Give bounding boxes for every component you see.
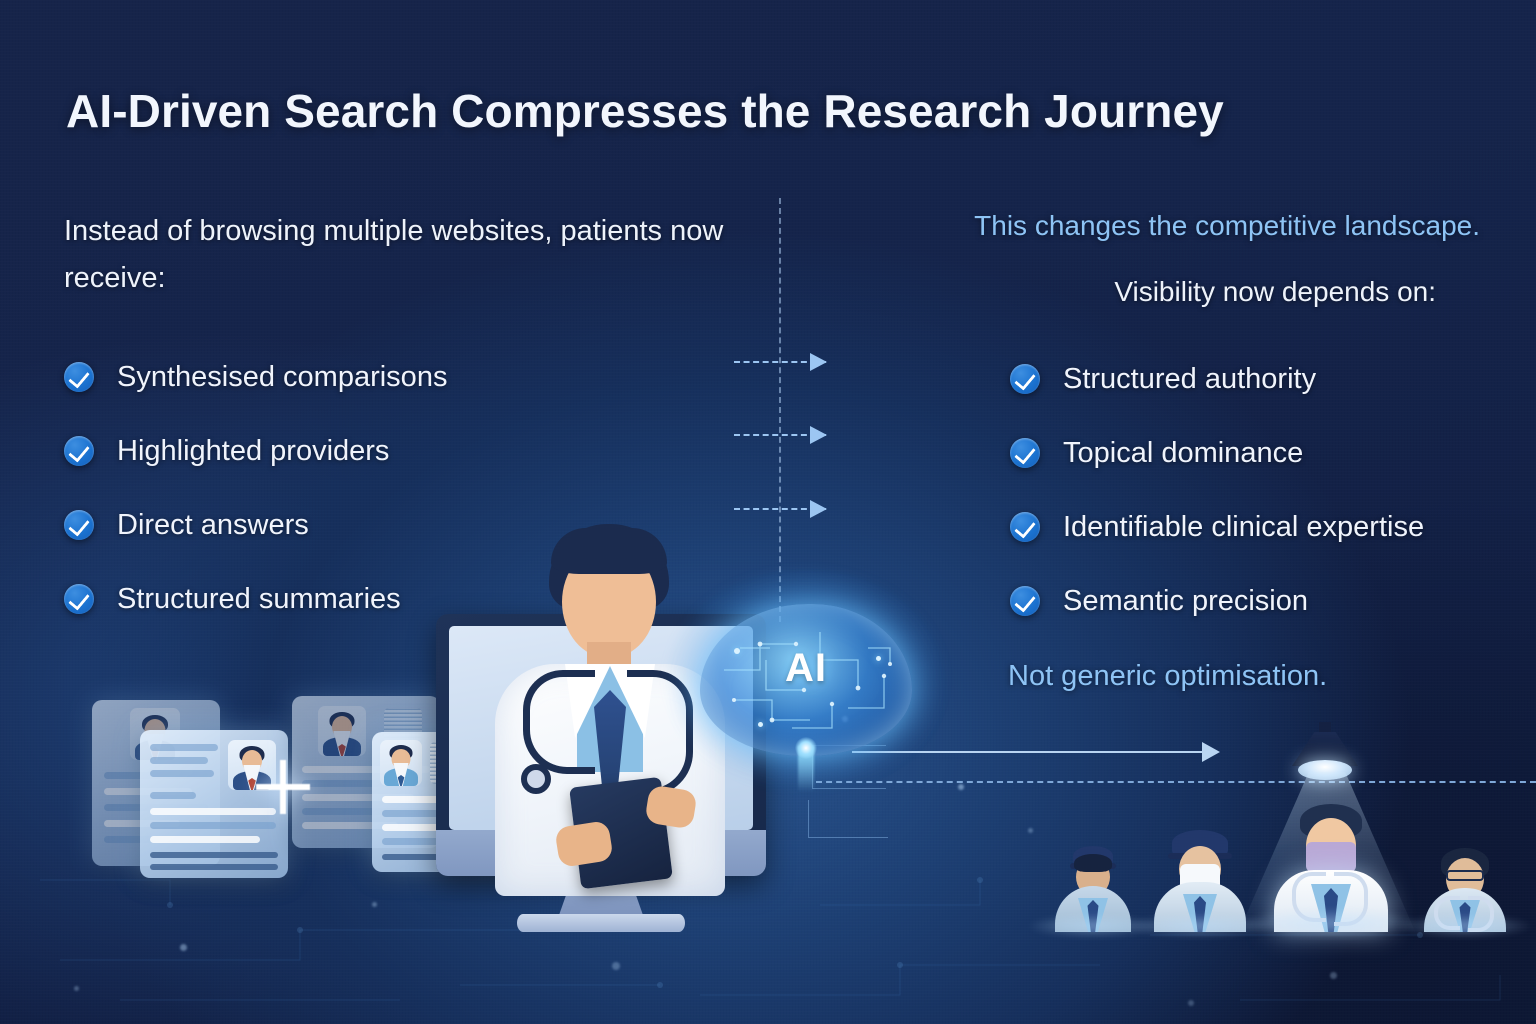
stethoscope-icon (523, 670, 595, 774)
glasses-icon (1446, 870, 1484, 881)
list-item-label: Identifiable clinical expertise (1063, 511, 1424, 544)
list-item: Highlighted providers (64, 414, 684, 488)
right-subhead: Visibility now depends on: (820, 276, 1436, 308)
spotlight-lamp-icon (1292, 722, 1358, 780)
list-item: Semantic precision (1010, 564, 1536, 638)
bottom-dashed-line (816, 781, 1536, 783)
list-item-label: Topical dominance (1063, 437, 1303, 470)
right-visibility-list: Structured authority Topical dominance I… (1010, 342, 1536, 638)
list-item-label: Highlighted providers (117, 435, 389, 468)
list-item-label: Synthesised comparisons (117, 361, 447, 394)
dashed-arrow-icon (734, 508, 826, 510)
check-circle-icon (1010, 586, 1040, 616)
ai-brain-icon: AI (700, 604, 912, 756)
person-figure-4 (1420, 848, 1510, 932)
person-figure-2 (1150, 830, 1250, 932)
person-figure-1 (1050, 846, 1136, 932)
face-mask-icon (1306, 842, 1356, 872)
person-figure-3-highlighted (1272, 804, 1390, 932)
list-item: Synthesised comparisons (64, 340, 684, 414)
check-circle-icon (1010, 438, 1040, 468)
right-headline: This changes the competitive landscape. (820, 210, 1480, 242)
check-circle-icon (1010, 364, 1040, 394)
check-circle-icon (1010, 512, 1040, 542)
list-item: Topical dominance (1010, 416, 1536, 490)
check-circle-icon (64, 436, 94, 466)
list-item-label: Structured summaries (117, 583, 401, 616)
vertical-dashed-divider (779, 198, 781, 622)
stethoscope-bell-icon (521, 764, 551, 794)
page-title: AI-Driven Search Compresses the Research… (66, 84, 1224, 138)
list-item-label: Direct answers (117, 509, 309, 542)
avatar (380, 740, 422, 786)
left-intro-text: Instead of browsing multiple websites, p… (64, 208, 724, 302)
right-footer-note: Not generic optimisation. (1008, 660, 1327, 693)
dashed-arrow-icon (734, 361, 826, 363)
ai-badge-label: AI (700, 646, 912, 691)
list-item-label: Structured authority (1063, 363, 1316, 396)
sparkle-icon (256, 760, 310, 814)
list-item: Identifiable clinical expertise (1010, 490, 1536, 564)
hud-bracket-decoration (808, 800, 888, 838)
list-item-label: Semantic precision (1063, 585, 1308, 618)
check-circle-icon (64, 510, 94, 540)
list-item: Structured authority (1010, 342, 1536, 416)
dashed-arrow-icon (734, 434, 826, 436)
check-circle-icon (64, 584, 94, 614)
check-circle-icon (64, 362, 94, 392)
avatar (318, 706, 366, 756)
